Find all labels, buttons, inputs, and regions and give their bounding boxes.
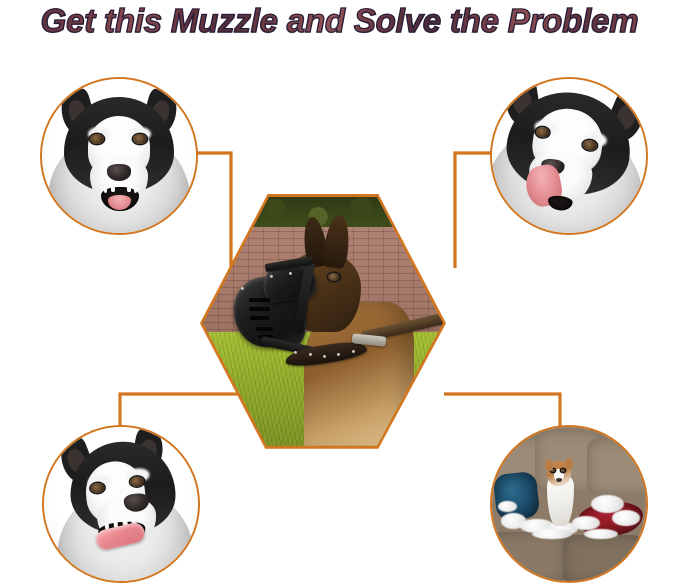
destroyed-couch-photo: [490, 425, 648, 583]
husky-licking-art: [490, 77, 648, 235]
center-hexagon: [200, 194, 446, 450]
muzzled-dog-photo: [203, 197, 443, 447]
connector-bottom-right: [444, 394, 560, 430]
destroyed-couch-art: [492, 427, 646, 581]
husky-chewing-photo: [42, 425, 200, 583]
husky-licking-photo: [490, 77, 648, 235]
husky-barking-photo: [40, 77, 198, 235]
husky-chewing-art: [42, 425, 200, 583]
husky-barking-art: [42, 79, 196, 233]
